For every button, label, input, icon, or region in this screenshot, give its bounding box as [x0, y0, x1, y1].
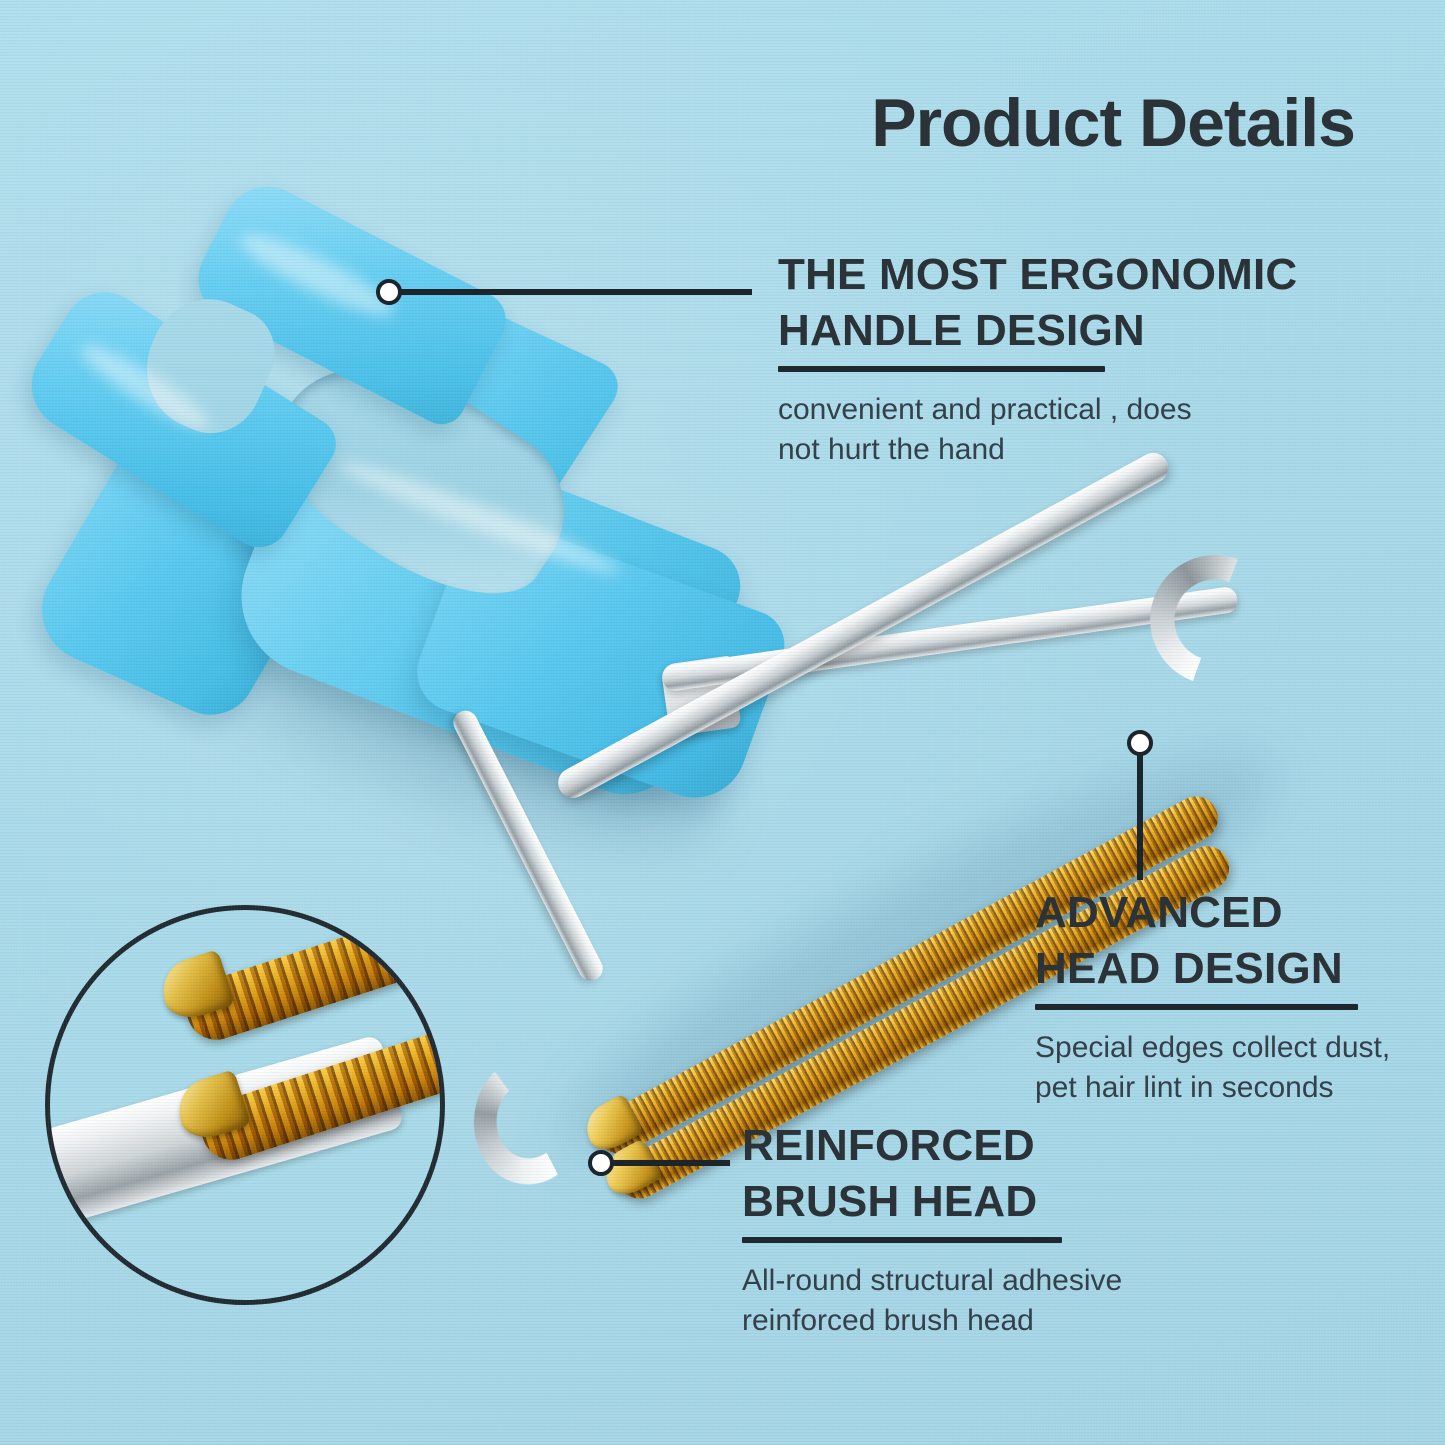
- callout-heading-line-2: HEAD DESIGN: [1035, 941, 1445, 997]
- leader-line-reinforced-brush-head: [612, 1160, 730, 1166]
- callout-body: convenient and practical , does not hurt…: [778, 390, 1378, 471]
- magnifier-circle: [45, 905, 445, 1305]
- infographic-canvas: Product Details THE MOST ERGONOMIC HANDL…: [0, 0, 1445, 1445]
- callout-heading: REINFORCED BRUSH HEAD: [742, 1118, 1212, 1231]
- metal-tip-left: [455, 1037, 605, 1204]
- callout-body-line-2: pet hair lint in seconds: [1035, 1068, 1445, 1109]
- callout-body: Special edges collect dust, pet hair lin…: [1035, 1028, 1445, 1109]
- callout-marker-dot-icon: [588, 1150, 614, 1176]
- callout-heading-line-1: THE MOST ERGONOMIC: [778, 247, 1378, 303]
- callout-heading-line-1: ADVANCED: [1035, 885, 1445, 941]
- callout-underline: [742, 1237, 1062, 1243]
- leader-line-ergonomic-handle: [400, 289, 752, 295]
- metal-tip-right: [1150, 555, 1280, 685]
- callout-underline: [778, 366, 1105, 372]
- page-title: Product Details: [755, 88, 1355, 159]
- callout-underline: [1035, 1004, 1358, 1010]
- callout-advanced-head: ADVANCED HEAD DESIGN Special edges colle…: [1035, 885, 1445, 1109]
- callout-marker-dot-icon: [376, 279, 402, 305]
- callout-marker-dot-icon: [1127, 730, 1153, 756]
- callout-body-line-1: convenient and practical , does: [778, 390, 1378, 431]
- callout-reinforced-brush-head: REINFORCED BRUSH HEAD All-round structur…: [742, 1118, 1212, 1342]
- callout-body: All-round structural adhesive reinforced…: [742, 1261, 1212, 1342]
- callout-ergonomic-handle: THE MOST ERGONOMIC HANDLE DESIGN conveni…: [778, 247, 1378, 471]
- product-illustration: [0, 0, 1445, 1445]
- callout-body-line-1: Special edges collect dust,: [1035, 1028, 1445, 1069]
- callout-heading: ADVANCED HEAD DESIGN: [1035, 885, 1445, 998]
- callout-heading-line-2: HANDLE DESIGN: [778, 303, 1378, 359]
- callout-heading-line-1: REINFORCED: [742, 1118, 1212, 1174]
- callout-body-line-2: reinforced brush head: [742, 1301, 1212, 1342]
- callout-heading-line-2: BRUSH HEAD: [742, 1174, 1212, 1230]
- callout-body-line-2: not hurt the hand: [778, 430, 1378, 471]
- callout-heading: THE MOST ERGONOMIC HANDLE DESIGN: [778, 247, 1378, 360]
- callout-body-line-1: All-round structural adhesive: [742, 1261, 1212, 1302]
- leader-line-advanced-head: [1137, 752, 1143, 880]
